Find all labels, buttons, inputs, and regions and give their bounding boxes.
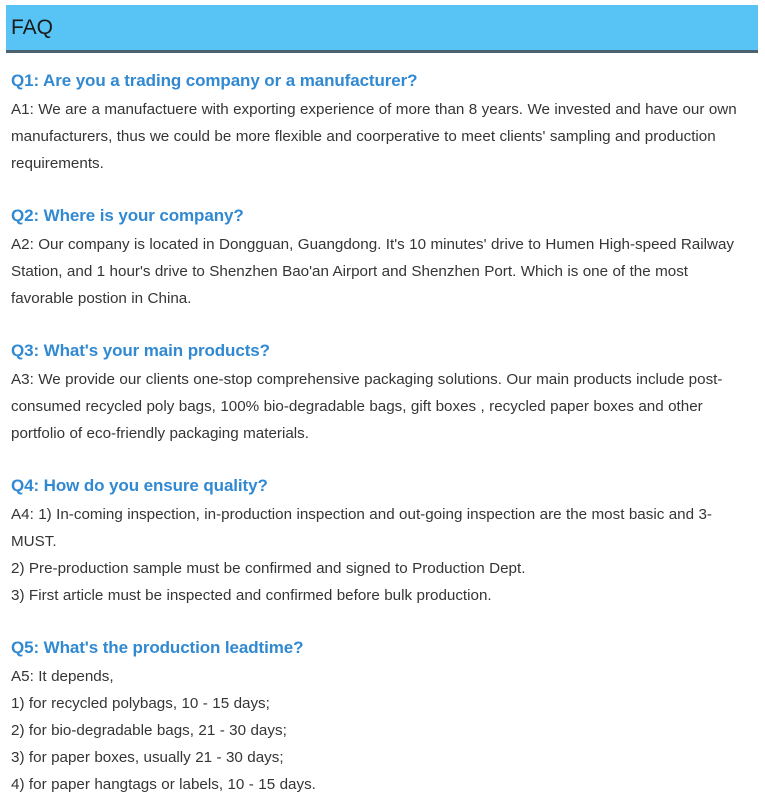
faq-answer-line: A3: We provide our clients one-stop comp…: [11, 366, 753, 447]
faq-answer-line: A1: We are a manufactuere with exporting…: [11, 96, 753, 177]
faq-answer-line: A4: 1) In-coming inspection, in-producti…: [11, 501, 753, 555]
faq-content: Q1: Are you a trading company or a manuf…: [11, 68, 753, 798]
page-title: FAQ: [6, 17, 53, 38]
faq-section: Q4: How do you ensure quality? A4: 1) In…: [11, 473, 753, 609]
faq-section: Q3: What's your main products? A3: We pr…: [11, 338, 753, 447]
faq-answer-line: 2) Pre-production sample must be confirm…: [11, 555, 753, 582]
faq-answer-line: A2: Our company is located in Dongguan, …: [11, 231, 753, 312]
faq-answer-line: A5: It depends,: [11, 663, 753, 690]
faq-question: Q4: How do you ensure quality?: [11, 473, 753, 499]
faq-section: Q2: Where is your company? A2: Our compa…: [11, 203, 753, 312]
faq-answer-line: 3) First article must be inspected and c…: [11, 582, 753, 609]
faq-answer-line: 1) for recycled polybags, 10 - 15 days;: [11, 690, 753, 717]
faq-section: Q5: What's the production leadtime? A5: …: [11, 635, 753, 798]
faq-answer-line: 2) for bio-degradable bags, 21 - 30 days…: [11, 717, 753, 744]
faq-question: Q1: Are you a trading company or a manuf…: [11, 68, 753, 94]
faq-section: Q1: Are you a trading company or a manuf…: [11, 68, 753, 177]
faq-question: Q2: Where is your company?: [11, 203, 753, 229]
faq-question: Q5: What's the production leadtime?: [11, 635, 753, 661]
faq-question: Q3: What's your main products?: [11, 338, 753, 364]
faq-page: FAQ Q1: Are you a trading company or a m…: [0, 0, 765, 748]
faq-header-banner: FAQ: [6, 5, 758, 53]
faq-answer-line: 4) for paper hangtags or labels, 10 - 15…: [11, 771, 753, 798]
faq-answer-line: 3) for paper boxes, usually 21 - 30 days…: [11, 744, 753, 771]
